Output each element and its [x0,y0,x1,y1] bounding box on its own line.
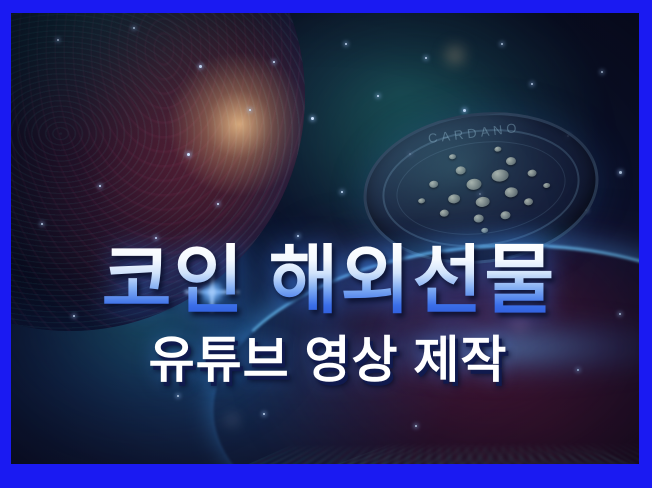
text-block: 코인 해외선물 유튜브 영상 제작 [0,243,652,385]
bokeh-orb-warm [441,41,469,69]
headline-title: 코인 해외선물 [0,243,652,319]
youtube-thumbnail: CARDANO [0,0,652,488]
subtitle-text: 유튜브 영상 제작 [0,335,652,385]
